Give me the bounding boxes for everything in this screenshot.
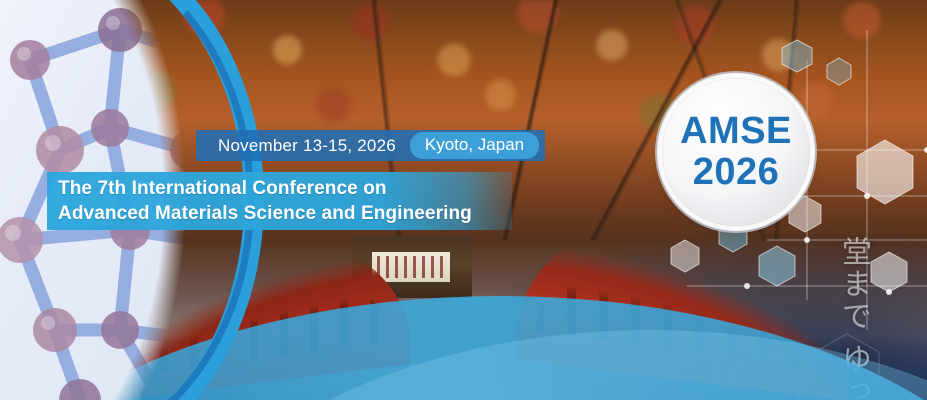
conference-title-line-1: The 7th International Conference on	[58, 176, 512, 201]
conference-location: Kyoto, Japan	[410, 132, 539, 159]
gate-signboard	[372, 252, 450, 282]
conference-banner: 堂まで ゆっくり歩いて	[0, 0, 927, 400]
badge-year: 2026	[693, 151, 780, 193]
conference-title-band: The 7th International Conference on Adva…	[47, 172, 512, 230]
conference-title-line-2: Advanced Materials Science and Engineeri…	[58, 201, 512, 226]
conference-date: November 13-15, 2026	[218, 136, 396, 156]
amse-logo-badge: AMSE 2026	[662, 78, 810, 226]
badge-acronym: AMSE	[680, 111, 792, 151]
date-location-bar: November 13-15, 2026 Kyoto, Japan	[196, 130, 545, 161]
